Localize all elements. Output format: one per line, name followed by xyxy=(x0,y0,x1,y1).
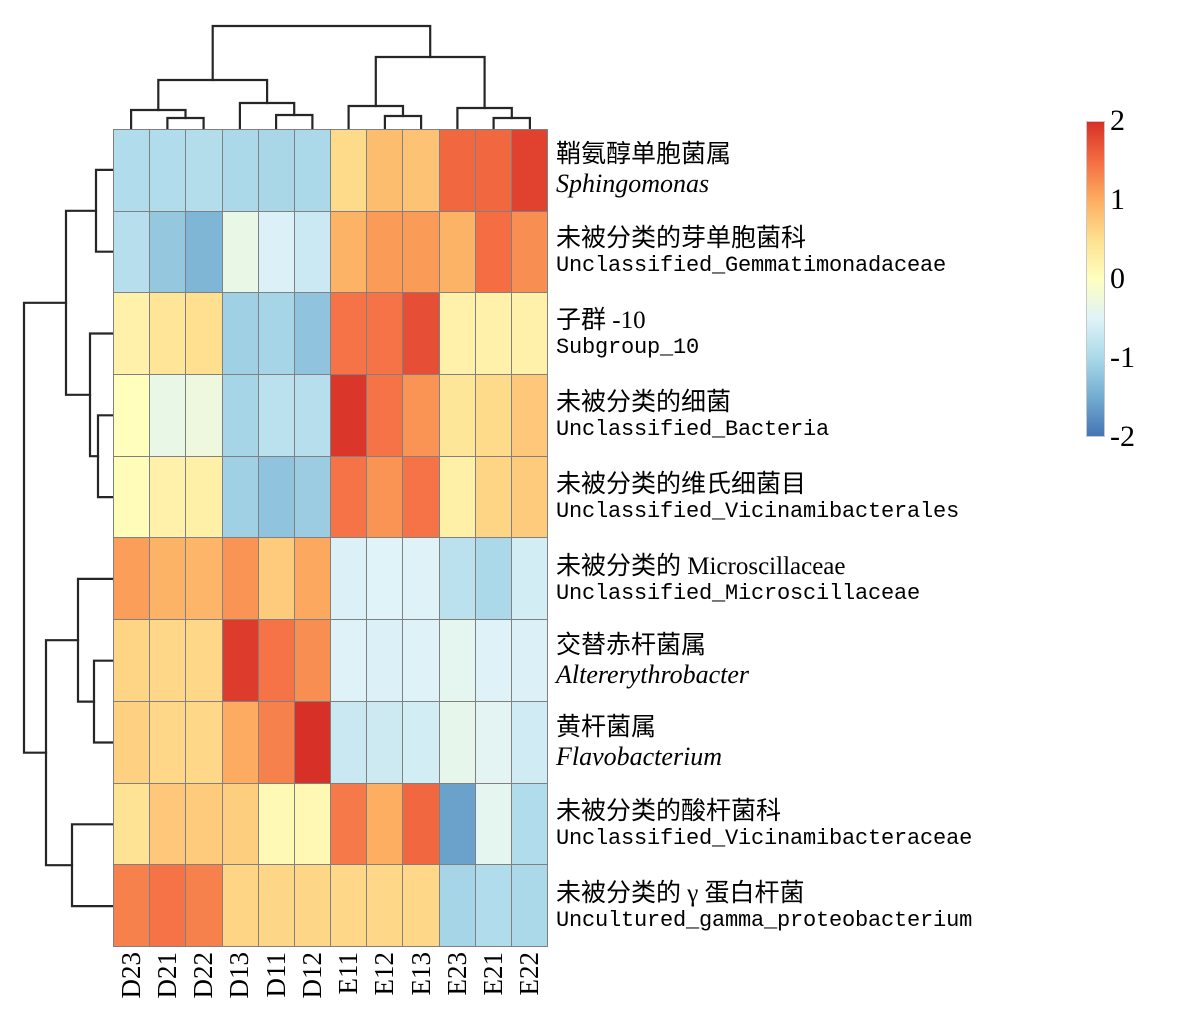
column-label: D21 xyxy=(149,952,185,1016)
heatmap-cell xyxy=(295,130,330,211)
heatmap-cell xyxy=(114,457,149,538)
heatmap-cell xyxy=(440,375,475,456)
heatmap-cell xyxy=(331,702,366,783)
heatmap-cell xyxy=(512,538,547,619)
heatmap-cell xyxy=(186,130,221,211)
heatmap-cell xyxy=(259,538,294,619)
heatmap-cell xyxy=(403,457,438,538)
heatmap-cell xyxy=(223,457,258,538)
heatmap-cell xyxy=(259,784,294,865)
heatmap-cell xyxy=(331,293,366,374)
row-label: 交替赤杆菌属Altererythrobacter xyxy=(556,620,1116,702)
row-label: 未被分类的细菌Unclassified_Bacteria xyxy=(556,374,1116,456)
heatmap-cell xyxy=(512,457,547,538)
heatmap-cell xyxy=(114,293,149,374)
heatmap-cell xyxy=(259,457,294,538)
colorbar-tick-label: -2 xyxy=(1110,422,1135,452)
heatmap-cell xyxy=(367,784,402,865)
column-label-text: D11 xyxy=(261,952,292,998)
row-label-latin: Altererythrobacter xyxy=(556,660,1116,690)
heatmap-cell xyxy=(259,212,294,293)
heatmap-cell xyxy=(223,375,258,456)
row-label-latin: Unclassified_Vicinamibacterales xyxy=(556,499,1116,525)
row-label-latin: Flavobacterium xyxy=(556,742,1116,772)
heatmap-cell xyxy=(295,293,330,374)
heatmap-cell xyxy=(440,293,475,374)
heatmap-cell xyxy=(331,784,366,865)
heatmap-cell xyxy=(186,865,221,946)
row-label-latin: Unclassified_Microscillaceae xyxy=(556,581,1116,607)
column-label: D22 xyxy=(186,952,222,1016)
heatmap-cell xyxy=(223,865,258,946)
heatmap-cell xyxy=(440,212,475,293)
row-label-chinese: 黄杆菌属 xyxy=(556,713,1116,742)
heatmap-cell xyxy=(295,375,330,456)
row-label-latin: Unclassified_Gemmatimonadaceae xyxy=(556,253,1116,279)
heatmap-cell xyxy=(223,293,258,374)
heatmap-cell xyxy=(476,865,511,946)
heatmap-cell xyxy=(440,457,475,538)
heatmap-cell xyxy=(440,538,475,619)
column-label-text: E22 xyxy=(514,952,545,996)
heatmap-cell xyxy=(367,865,402,946)
heatmap-cell xyxy=(331,130,366,211)
heatmap-cell xyxy=(259,865,294,946)
row-dendrogram xyxy=(8,129,113,947)
heatmap-cell xyxy=(150,212,185,293)
heatmap-cell xyxy=(331,620,366,701)
heatmap-cell xyxy=(512,212,547,293)
row-label-chinese: 交替赤杆菌属 xyxy=(556,631,1116,660)
heatmap-cell xyxy=(186,375,221,456)
row-label: 未被分类的 γ 蛋白杆菌Uncultured_gamma_proteobacte… xyxy=(556,865,1116,947)
heatmap-cell xyxy=(512,620,547,701)
row-label-latin: Sphingomonas xyxy=(556,169,1116,199)
heatmap-cell xyxy=(476,130,511,211)
heatmap-cell xyxy=(476,375,511,456)
heatmap-cell xyxy=(476,457,511,538)
heatmap-cell xyxy=(150,620,185,701)
heatmap-cell xyxy=(367,620,402,701)
heatmap-grid xyxy=(113,129,548,947)
heatmap-cell xyxy=(150,702,185,783)
heatmap-cell xyxy=(331,865,366,946)
heatmap-cell xyxy=(476,212,511,293)
heatmap-cell xyxy=(150,784,185,865)
heatmap-cell xyxy=(403,293,438,374)
colorbar-tick-label: 2 xyxy=(1110,106,1125,136)
heatmap-cell xyxy=(440,702,475,783)
column-label-text: D23 xyxy=(116,952,147,999)
heatmap-cell xyxy=(150,375,185,456)
heatmap-cell xyxy=(259,293,294,374)
heatmap-cell xyxy=(403,130,438,211)
row-label-latin: Unclassified_Vicinamibacteraceae xyxy=(556,826,1116,852)
column-label: E11 xyxy=(331,952,367,1016)
heatmap-cell xyxy=(114,375,149,456)
column-label-text: D22 xyxy=(188,952,219,999)
heatmap-cell xyxy=(114,130,149,211)
column-label-text: E21 xyxy=(478,952,509,996)
column-label: E13 xyxy=(403,952,439,1016)
heatmap-cell xyxy=(150,538,185,619)
heatmap-cell xyxy=(403,212,438,293)
heatmap-cell xyxy=(295,620,330,701)
heatmap-cell xyxy=(440,865,475,946)
column-label: D12 xyxy=(294,952,330,1016)
column-label-text: D13 xyxy=(224,952,255,999)
row-label-chinese: 子群 -10 xyxy=(556,306,1116,335)
figure-canvas: 鞘氨醇单胞菌属Sphingomonas未被分类的芽单胞菌科Unclassifie… xyxy=(0,0,1181,1016)
row-label: 未被分类的芽单胞菌科Unclassified_Gemmatimonadaceae xyxy=(556,211,1116,293)
heatmap-cell xyxy=(186,457,221,538)
column-label: E23 xyxy=(439,952,475,1016)
heatmap-cell xyxy=(440,620,475,701)
heatmap-cell xyxy=(150,293,185,374)
heatmap-cell xyxy=(512,865,547,946)
heatmap-cell xyxy=(223,130,258,211)
row-label: 鞘氨醇单胞菌属Sphingomonas xyxy=(556,129,1116,211)
heatmap-cell xyxy=(223,212,258,293)
heatmap-cell xyxy=(476,538,511,619)
colorbar: 210-1-2 xyxy=(1086,121,1181,451)
heatmap-cell xyxy=(403,865,438,946)
row-label-latin: Unclassified_Bacteria xyxy=(556,417,1116,443)
row-label: 子群 -10Subgroup_10 xyxy=(556,293,1116,375)
row-label: 未被分类的维氏细菌目Unclassified_Vicinamibacterale… xyxy=(556,456,1116,538)
heatmap-cell xyxy=(223,784,258,865)
heatmap-cell xyxy=(150,130,185,211)
row-label-chinese: 未被分类的维氏细菌目 xyxy=(556,470,1116,499)
heatmap-cell xyxy=(367,293,402,374)
heatmap-cell xyxy=(114,865,149,946)
column-label-text: E23 xyxy=(442,952,473,996)
heatmap-cell xyxy=(186,293,221,374)
heatmap-cell xyxy=(259,702,294,783)
heatmap-cell xyxy=(403,620,438,701)
heatmap-cell xyxy=(512,375,547,456)
colorbar-gradient xyxy=(1086,121,1105,437)
column-label-text: D21 xyxy=(152,952,183,999)
heatmap-cell xyxy=(295,702,330,783)
column-labels: D23D21D22D13D11D12E11E12E13E23E21E22 xyxy=(113,952,548,1016)
heatmap-cell xyxy=(114,538,149,619)
heatmap-cell xyxy=(114,784,149,865)
row-label-chinese: 未被分类的芽单胞菌科 xyxy=(556,224,1116,253)
row-label: 未被分类的 MicroscillaceaeUnclassified_Micros… xyxy=(556,538,1116,620)
heatmap-cell xyxy=(440,784,475,865)
heatmap-cell xyxy=(403,538,438,619)
row-label-chinese: 未被分类的细菌 xyxy=(556,388,1116,417)
column-label: E22 xyxy=(512,952,548,1016)
heatmap-cell xyxy=(186,620,221,701)
heatmap-cell xyxy=(367,538,402,619)
heatmap-cell xyxy=(440,130,475,211)
colorbar-tick-label: 0 xyxy=(1110,264,1125,294)
heatmap-cell xyxy=(295,457,330,538)
heatmap-cell xyxy=(403,702,438,783)
colorbar-tick-label: -1 xyxy=(1110,343,1135,373)
row-label-chinese: 未被分类的 Microscillaceae xyxy=(556,552,1116,581)
heatmap-cell xyxy=(367,457,402,538)
heatmap-cell xyxy=(295,212,330,293)
heatmap-cell xyxy=(150,865,185,946)
column-label-text: E12 xyxy=(369,952,400,996)
column-label-text: E11 xyxy=(333,952,364,995)
heatmap-cell xyxy=(331,538,366,619)
column-label: D11 xyxy=(258,952,294,1016)
heatmap-cell xyxy=(259,620,294,701)
heatmap-cell xyxy=(186,212,221,293)
row-label-latin: Uncultured_gamma_proteobacterium xyxy=(556,908,1116,934)
heatmap-cell xyxy=(367,130,402,211)
heatmap-cell xyxy=(512,130,547,211)
heatmap-cell xyxy=(295,538,330,619)
heatmap-cell xyxy=(331,457,366,538)
heatmap-cell xyxy=(259,130,294,211)
heatmap-cell xyxy=(114,212,149,293)
heatmap-cell xyxy=(295,784,330,865)
heatmap-cell xyxy=(403,784,438,865)
row-label: 黄杆菌属Flavobacterium xyxy=(556,702,1116,784)
heatmap-cell xyxy=(150,457,185,538)
heatmap-cell xyxy=(331,375,366,456)
heatmap-cell xyxy=(512,702,547,783)
row-label-chinese: 鞘氨醇单胞菌属 xyxy=(556,140,1116,169)
column-label: E21 xyxy=(476,952,512,1016)
heatmap-cell xyxy=(114,702,149,783)
column-label: E12 xyxy=(367,952,403,1016)
heatmap-cell xyxy=(186,702,221,783)
heatmap-cell xyxy=(223,538,258,619)
heatmap-cell xyxy=(403,375,438,456)
heatmap-cell xyxy=(223,620,258,701)
heatmap-cell xyxy=(512,293,547,374)
row-label-chinese: 未被分类的酸杆菌科 xyxy=(556,797,1116,826)
heatmap-cell xyxy=(367,702,402,783)
heatmap-cell xyxy=(223,702,258,783)
heatmap-cell xyxy=(259,375,294,456)
heatmap-cell xyxy=(367,375,402,456)
heatmap-cell xyxy=(476,702,511,783)
heatmap-cell xyxy=(476,293,511,374)
column-label-text: E13 xyxy=(406,952,437,996)
row-label-chinese: 未被分类的 γ 蛋白杆菌 xyxy=(556,879,1116,908)
heatmap-cell xyxy=(476,784,511,865)
row-labels: 鞘氨醇单胞菌属Sphingomonas未被分类的芽单胞菌科Unclassifie… xyxy=(556,129,1116,947)
colorbar-tick-label: 1 xyxy=(1110,185,1125,215)
column-label: D23 xyxy=(113,952,149,1016)
heatmap-cell xyxy=(186,538,221,619)
heatmap-cell xyxy=(476,620,511,701)
row-label: 未被分类的酸杆菌科Unclassified_Vicinamibacteracea… xyxy=(556,783,1116,865)
heatmap-cell xyxy=(367,212,402,293)
row-label-latin: Subgroup_10 xyxy=(556,335,1116,361)
heatmap-cell xyxy=(295,865,330,946)
column-label: D13 xyxy=(222,952,258,1016)
heatmap-cell xyxy=(512,784,547,865)
column-label-text: D12 xyxy=(297,952,328,999)
column-dendrogram xyxy=(113,14,548,129)
heatmap-cell xyxy=(114,620,149,701)
heatmap-cell xyxy=(186,784,221,865)
heatmap-cell xyxy=(331,212,366,293)
